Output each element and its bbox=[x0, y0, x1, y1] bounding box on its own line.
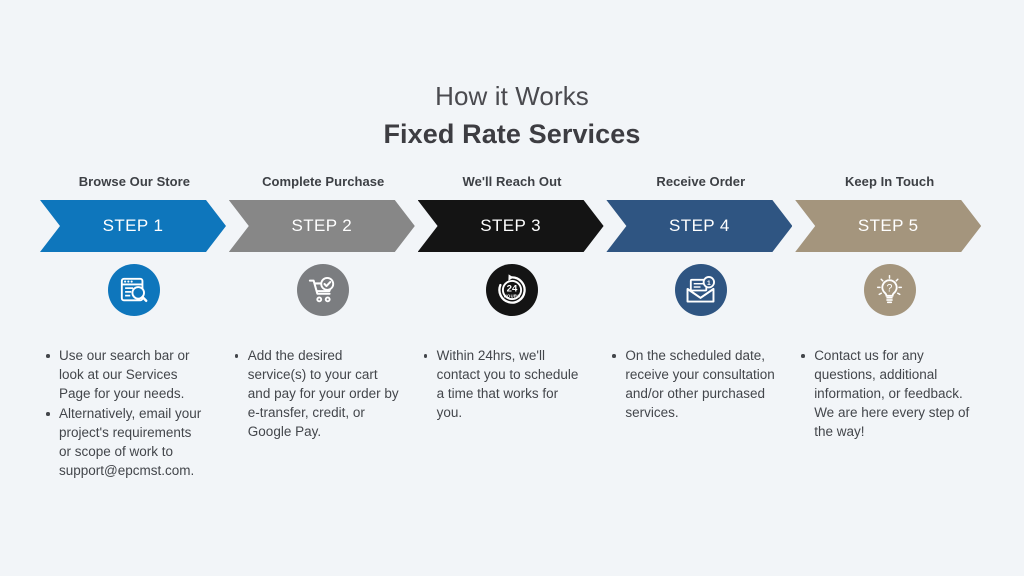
step-bullets-1: Use our search bar or look at our Servic… bbox=[40, 346, 229, 480]
list-item: Within 24hrs, we'll contact you to sched… bbox=[418, 346, 585, 422]
list-item: Use our search bar or look at our Servic… bbox=[40, 346, 207, 403]
step-chevron-4[interactable]: STEP 4 bbox=[606, 200, 792, 252]
envelope-badge-text: 1 bbox=[707, 279, 711, 286]
process-steps: Browse Our Store STEP 1 bbox=[40, 174, 984, 494]
step-bullets-3: Within 24hrs, we'll contact you to sched… bbox=[418, 346, 607, 422]
step-column-1: Browse Our Store STEP 1 bbox=[40, 174, 229, 494]
step-chevron-label-5: STEP 5 bbox=[858, 216, 919, 236]
step-chevron-label-3: STEP 3 bbox=[480, 216, 541, 236]
step-chevron-label-2: STEP 2 bbox=[291, 216, 352, 236]
step-chevron-label-4: STEP 4 bbox=[669, 216, 730, 236]
envelope-notification-icon: 1 bbox=[675, 264, 727, 316]
step-chevron-band-3: STEP 3 bbox=[418, 200, 607, 252]
step-icon-wrap-5: ? bbox=[795, 264, 984, 316]
lightbulb-question-mark: ? bbox=[887, 282, 893, 294]
list-item: Add the desired service(s) to your cart … bbox=[229, 346, 400, 441]
list-item: Contact us for any questions, additional… bbox=[795, 346, 976, 441]
page-title: Fixed Rate Services bbox=[0, 117, 1024, 152]
step-chevron-1[interactable]: STEP 1 bbox=[40, 200, 226, 252]
step-header-4: Receive Order bbox=[606, 174, 795, 200]
step-bullets-5: Contact us for any questions, additional… bbox=[795, 346, 984, 441]
step-chevron-3[interactable]: STEP 3 bbox=[418, 200, 604, 252]
step-chevron-5[interactable]: STEP 5 bbox=[795, 200, 981, 252]
step-header-1: Browse Our Store bbox=[40, 174, 229, 200]
step-column-5: Keep In Touch STEP 5 ? bbox=[795, 174, 984, 494]
clock-unit-text: HOURS bbox=[504, 293, 521, 298]
list-item: On the scheduled date, receive your cons… bbox=[606, 346, 775, 422]
step-icon-wrap-3: 24 HOURS bbox=[418, 264, 607, 316]
24-hours-clock-icon: 24 HOURS bbox=[486, 264, 538, 316]
step-chevron-2[interactable]: STEP 2 bbox=[229, 200, 415, 252]
step-column-2: Complete Purchase STEP 2 Add the desired… bbox=[229, 174, 418, 494]
step-chevron-label-1: STEP 1 bbox=[103, 216, 164, 236]
step-bullets-2: Add the desired service(s) to your cart … bbox=[229, 346, 418, 441]
document-search-icon bbox=[108, 264, 160, 316]
step-chevron-band-4: STEP 4 bbox=[606, 200, 795, 252]
step-bullets-4: On the scheduled date, receive your cons… bbox=[606, 346, 795, 422]
list-item: Alternatively, email your project's requ… bbox=[40, 404, 207, 480]
step-header-5: Keep In Touch bbox=[795, 174, 984, 200]
shopping-cart-check-icon bbox=[297, 264, 349, 316]
step-chevron-band-1: STEP 1 bbox=[40, 200, 229, 252]
step-chevron-band-5: STEP 5 bbox=[795, 200, 984, 252]
step-icon-wrap-4: 1 bbox=[606, 264, 795, 316]
page-title-block: How it Works Fixed Rate Services bbox=[0, 80, 1024, 152]
step-chevron-band-2: STEP 2 bbox=[229, 200, 418, 252]
step-icon-wrap-2 bbox=[229, 264, 418, 316]
page-title-eyebrow: How it Works bbox=[0, 80, 1024, 113]
step-icon-wrap-1 bbox=[40, 264, 229, 316]
step-column-3: We'll Reach Out STEP 3 24 HOURS Within 2… bbox=[418, 174, 607, 494]
step-column-4: Receive Order STEP 4 1 On the scheduled bbox=[606, 174, 795, 494]
lightbulb-question-icon: ? bbox=[864, 264, 916, 316]
step-header-3: We'll Reach Out bbox=[418, 174, 607, 200]
step-header-2: Complete Purchase bbox=[229, 174, 418, 200]
